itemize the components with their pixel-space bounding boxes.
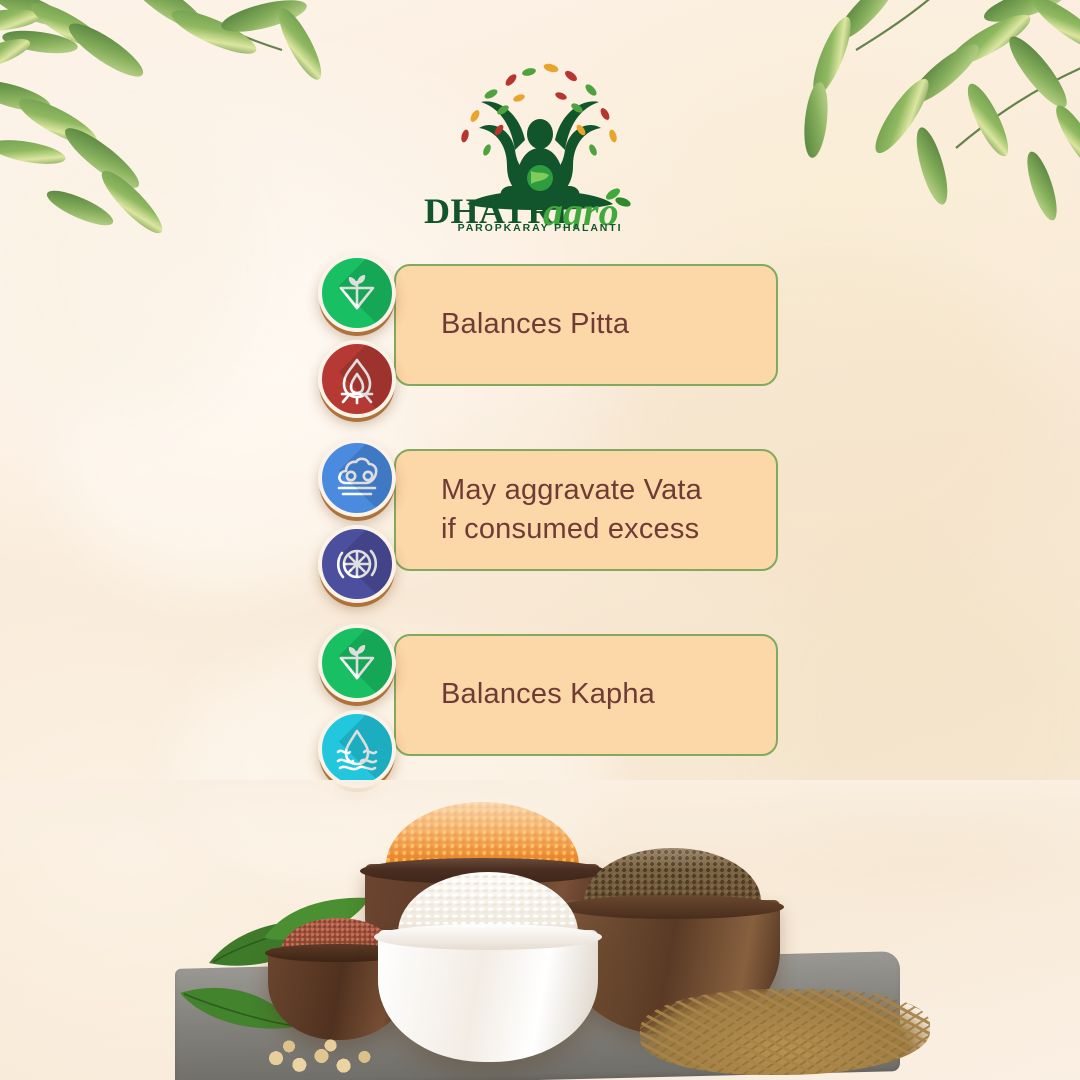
feature-card[interactable]: Balances Kapha [394, 634, 778, 756]
feature-row: Balances Pitta [318, 252, 778, 402]
rice-husk-pile [640, 989, 930, 1075]
bowl-white-rice [378, 930, 598, 1062]
bowls-of-grains-photo [0, 780, 1080, 1080]
balance-plant-icon[interactable] [318, 624, 396, 702]
water-drop-waves-icon[interactable] [318, 710, 396, 788]
tree-with-meditating-figure-icon: DHATRI agro [415, 58, 665, 228]
feature-card[interactable]: May aggravate Vata if consumed excess [394, 449, 778, 571]
feature-text: May aggravate Vata if consumed excess [441, 471, 702, 550]
leaf-decoration-top-left [0, 0, 412, 276]
bowl-rim [374, 924, 603, 950]
poster-canvas: DHATRI agro PAROPKARAY PHALANTI Balances… [0, 0, 1080, 1080]
watercolor-blotch [0, 120, 260, 420]
soy-beans [250, 1034, 380, 1078]
feature-row: May aggravate Vata if consumed excess [318, 437, 778, 587]
fire-flame-icon[interactable] [318, 340, 396, 418]
brand-logo: DHATRI agro PAROPKARAY PHALANTI [415, 58, 665, 234]
feature-text: Balances Kapha [441, 675, 655, 714]
bowl-rim [561, 895, 785, 919]
cloud-wind-icon[interactable] [318, 439, 396, 517]
feature-card[interactable]: Balances Pitta [394, 264, 778, 386]
feature-text: Balances Pitta [441, 305, 629, 344]
balance-plant-icon[interactable] [318, 254, 396, 332]
feature-row: Balances Kapha [318, 622, 778, 772]
wind-swirl-icon[interactable] [318, 525, 396, 603]
leaf-decoration-top-right [670, 0, 1080, 270]
